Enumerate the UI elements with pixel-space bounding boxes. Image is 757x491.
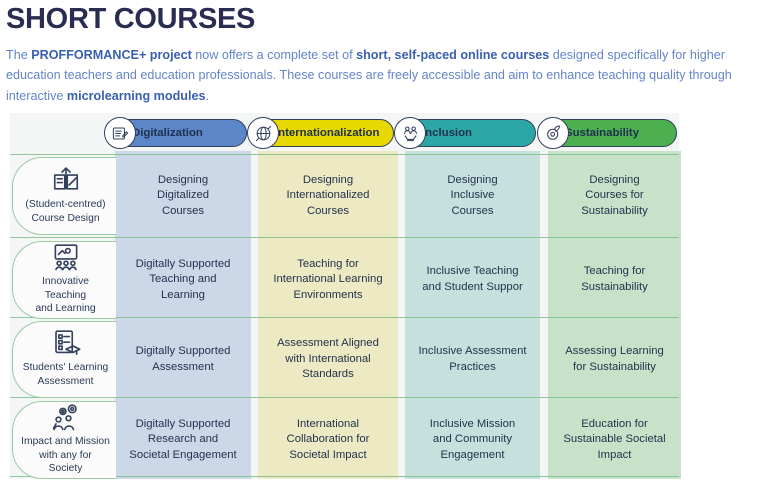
cell-text: Digitally SupportedAssessment <box>136 344 231 375</box>
column-header-internationalization[interactable]: Internationalization <box>248 119 394 147</box>
checklist-cap-icon <box>51 328 81 358</box>
column-header-label: Inclusion <box>422 127 482 139</box>
classroom-icon <box>51 242 81 272</box>
cell-text: Inclusive Teachingand Student Suppor <box>422 264 523 295</box>
courses-matrix: DigitalizationInternationalizationInclus… <box>10 113 679 479</box>
people-gears-icon <box>51 402 81 432</box>
cell-text: Assessing Learningfor Sustainability <box>565 344 664 375</box>
cell-teaching-learning-sustainability[interactable]: Teaching forSustainability <box>548 241 681 319</box>
cell-learning-assessment-digitalization[interactable]: Digitally SupportedAssessment <box>115 321 251 398</box>
cell-text: Assessment Alignedwith InternationalStan… <box>277 336 379 383</box>
column-header-sustainability[interactable]: Sustainability <box>538 119 677 147</box>
cell-learning-assessment-internationalization[interactable]: Assessment Alignedwith InternationalStan… <box>258 321 398 398</box>
cell-course-design-digitalization[interactable]: DesigningDigitalizedCourses <box>115 157 251 235</box>
intro-text: . <box>205 89 209 103</box>
column-header-label: Digitalization <box>132 127 213 139</box>
intro-emphasis: microlearning modules <box>67 89 206 103</box>
cell-text: InternationalCollaboration forSocietal I… <box>287 417 370 464</box>
row-separator <box>10 237 679 238</box>
column-header-label: Internationalization <box>275 127 389 139</box>
cell-text: DesigningCourses forSustainability <box>581 173 648 220</box>
row-label-impact-mission[interactable]: Impact and Missionwith any forSociety <box>12 401 116 479</box>
cell-learning-assessment-sustainability[interactable]: Assessing Learningfor Sustainability <box>548 321 681 398</box>
cell-text: Digitally SupportedTeaching andLearning <box>136 257 231 304</box>
globe-icon <box>247 117 279 149</box>
page-title: SHORT COURSES <box>0 0 757 36</box>
cell-learning-assessment-inclusion[interactable]: Inclusive AssessmentPractices <box>405 321 540 398</box>
row-label-teaching-learning[interactable]: Innovative Teachingand Learning <box>12 241 116 319</box>
cell-teaching-learning-internationalization[interactable]: Teaching forInternational LearningEnviro… <box>258 241 398 319</box>
intro-paragraph: The PROFFORMANCE+ project now offers a c… <box>0 36 752 106</box>
cell-impact-mission-sustainability[interactable]: Education forSustainable SocietalImpact <box>548 401 681 479</box>
cell-text: DesigningInternationalizedCourses <box>287 173 370 220</box>
column-header-digitalization[interactable]: Digitalization <box>105 119 247 147</box>
cell-text: Teaching forSustainability <box>581 264 648 295</box>
matrix-header-row: DigitalizationInternationalizationInclus… <box>10 113 679 151</box>
open-book-icon <box>51 165 81 195</box>
row-label-text: Impact and Missionwith any forSociety <box>21 435 110 476</box>
cell-teaching-learning-digitalization[interactable]: Digitally SupportedTeaching andLearning <box>115 241 251 319</box>
cell-course-design-inclusion[interactable]: DesigningInclusiveCourses <box>405 157 540 235</box>
row-label-course-design[interactable]: (Student-centred)Course Design <box>12 157 116 235</box>
cell-impact-mission-inclusion[interactable]: Inclusive Missionand CommunityEngagement <box>405 401 540 479</box>
cell-text: DesigningInclusiveCourses <box>447 173 497 220</box>
row-label-text: Innovative Teachingand Learning <box>21 275 110 316</box>
column-header-label: Sustainability <box>565 127 649 139</box>
cell-text: Inclusive Missionand CommunityEngagement <box>430 417 515 464</box>
intro-emphasis: short, self-paced online courses <box>356 48 549 62</box>
cell-impact-mission-internationalization[interactable]: InternationalCollaboration forSocietal I… <box>258 401 398 479</box>
cell-teaching-learning-inclusion[interactable]: Inclusive Teachingand Student Suppor <box>405 241 540 319</box>
document-pencil-icon <box>104 117 136 149</box>
row-label-text: (Student-centred)Course Design <box>25 198 105 225</box>
row-label-learning-assessment[interactable]: Students' LearningAssessment <box>12 321 116 398</box>
cell-text: Teaching forInternational LearningEnviro… <box>273 257 382 304</box>
intro-text: now offers a complete set of <box>192 48 356 62</box>
intro-text: The <box>6 48 31 62</box>
row-separator <box>10 154 679 155</box>
cell-text: DesigningDigitalizedCourses <box>157 173 209 220</box>
leaf-gear-icon <box>537 117 569 149</box>
cell-impact-mission-digitalization[interactable]: Digitally SupportedResearch andSocietal … <box>115 401 251 479</box>
cell-course-design-internationalization[interactable]: DesigningInternationalizedCourses <box>258 157 398 235</box>
column-header-inclusion[interactable]: Inclusion <box>395 119 536 147</box>
intro-emphasis: PROFFORMANCE+ project <box>31 48 192 62</box>
people-hands-icon <box>394 117 426 149</box>
cell-text: Inclusive AssessmentPractices <box>419 344 527 375</box>
cell-text: Education forSustainable SocietalImpact <box>563 417 665 464</box>
cell-text: Digitally SupportedResearch andSocietal … <box>129 417 236 464</box>
row-label-text: Students' LearningAssessment <box>23 361 109 388</box>
cell-course-design-sustainability[interactable]: DesigningCourses forSustainability <box>548 157 681 235</box>
